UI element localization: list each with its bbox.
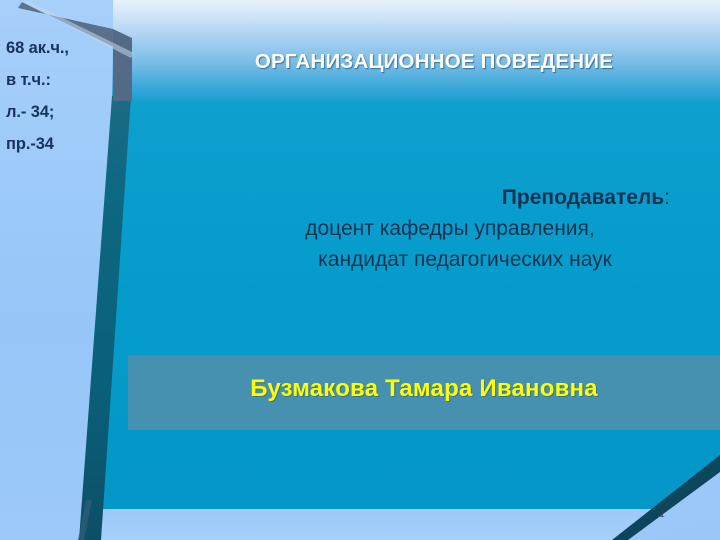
course-hours-line-practice: пр.-34 [6,128,118,160]
course-hours-notes: 68 ак.ч., в т.ч.: л.- 34; пр.-34 [6,32,118,160]
slide-title: ОРГАНИЗАЦИОННОЕ ПОВЕДЕНИЕ [150,50,718,74]
course-hours-line-total: 68 ак.ч., [6,32,118,64]
course-hours-line-including: в т.ч.: [6,64,118,96]
instructor-name-plate: Бузмакова Тамара Ивановна [128,355,720,430]
instructor-label: Преподаватель [502,186,664,209]
instructor-details: Преподаватель: доцент кафедры управления… [180,182,700,275]
instructor-name: Бузмакова Тамара Ивановна [128,375,720,403]
footer-band [0,509,720,540]
instructor-label-line: Преподаватель: [180,182,700,213]
course-hours-line-lectures: л.- 34; [6,96,118,128]
instructor-degree: кандидат педагогических наук [180,244,700,275]
slide-page-number: 1 [650,505,674,521]
presentation-slide: 68 ак.ч., в т.ч.: л.- 34; пр.-34 ОРГАНИЗ… [0,0,720,540]
instructor-position: доцент кафедры управления, [180,213,700,244]
instructor-label-colon: : [664,186,670,209]
